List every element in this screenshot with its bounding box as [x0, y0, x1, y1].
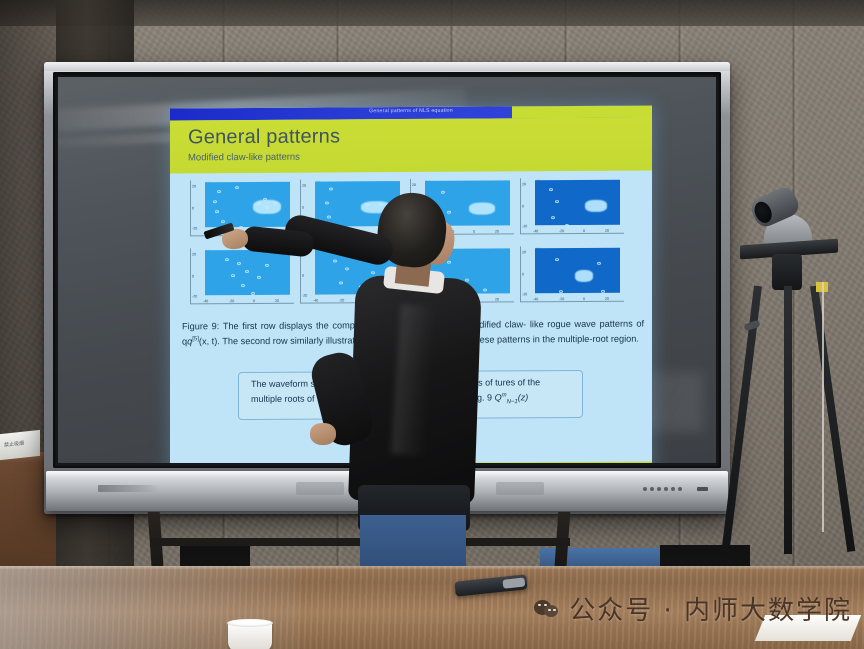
camera-tripod	[726, 186, 846, 586]
display-frame-highlight	[44, 62, 730, 71]
lecture-room-scene: 禁止吸烟 General patterns of NLS equation Ge…	[0, 0, 864, 649]
ir-receiver-icon	[697, 487, 708, 491]
contour-panel: (d) 200-20 -40-20020	[520, 178, 624, 235]
camera-cable	[822, 282, 824, 532]
figure-caption-superscript: [5]	[192, 336, 199, 342]
watermark: 公众号 · 内师大数学院	[534, 590, 852, 627]
contour-plot	[535, 180, 620, 226]
watermark-text: 公众号 · 内师大数学院	[569, 590, 852, 627]
volume-down-button[interactable]	[664, 487, 668, 491]
channel-button[interactable]	[678, 487, 682, 491]
volume-up-button[interactable]	[671, 487, 675, 491]
figure-caption-label: Figure 9:	[182, 321, 219, 331]
paper-cup	[228, 622, 272, 649]
tripod-leg	[784, 286, 792, 554]
slide-nav-accent	[512, 106, 652, 119]
contour-plot	[205, 182, 290, 228]
menu-button[interactable]	[657, 487, 661, 491]
desk-edge	[0, 566, 864, 570]
wechat-icon	[534, 598, 560, 620]
brand-logo	[98, 485, 158, 492]
contour-plot	[205, 250, 290, 296]
contour-panel: (h) 200-20 -40-20020	[520, 246, 624, 303]
page-title: General patterns	[188, 125, 340, 149]
wall-sign-label: 禁止吸烟	[4, 440, 24, 449]
contour-plot	[535, 248, 620, 294]
contour-panel: (a) 200-20 -40-20020	[190, 180, 294, 237]
contour-panel: (e) 200-20 -40-20020	[190, 248, 294, 305]
wall-sign: 禁止吸烟	[0, 430, 40, 460]
source-button[interactable]	[650, 487, 654, 491]
soundbar-buttons[interactable]	[643, 487, 682, 491]
presenter	[300, 185, 510, 585]
power-button[interactable]	[643, 487, 647, 491]
tripod-head	[772, 254, 802, 290]
presenter-hand	[310, 423, 336, 445]
page-subtitle: Modified claw-like patterns	[188, 152, 300, 164]
